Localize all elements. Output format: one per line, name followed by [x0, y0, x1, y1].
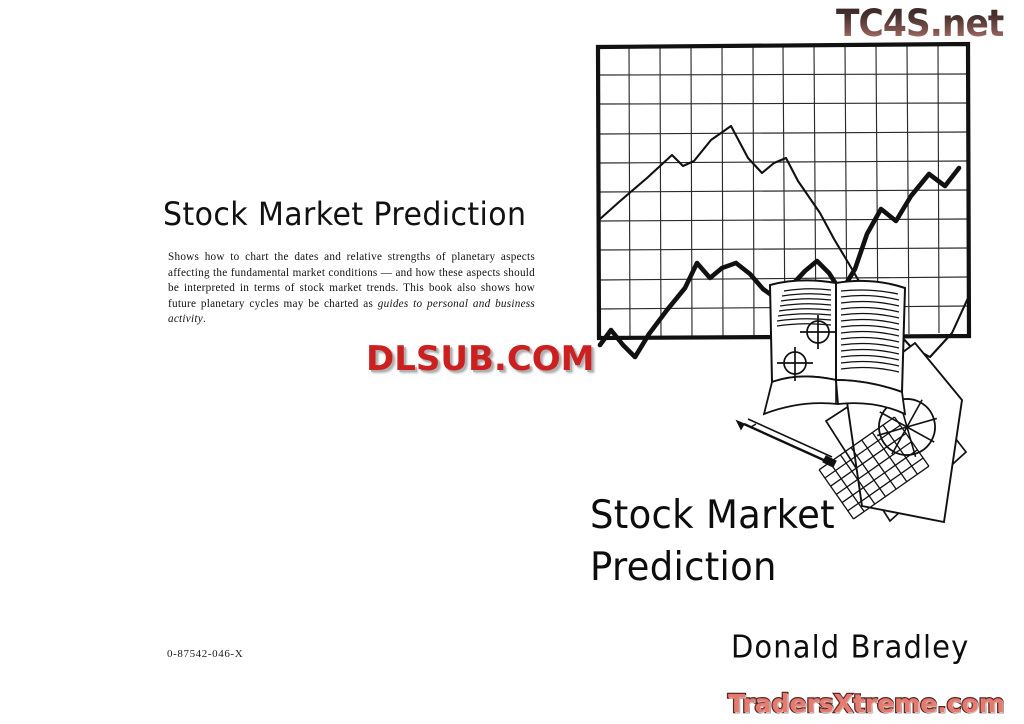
book-text-lines-right — [841, 290, 899, 372]
book-cover-page: Stock Market Prediction Shows how to cha… — [0, 0, 1024, 724]
pie-chart — [869, 389, 946, 466]
pencil-icon — [737, 419, 836, 467]
front-cover-author: Donald Bradley — [731, 629, 969, 665]
watermark-tc4s: TC4S.net — [836, 2, 1003, 45]
blurb-end-text: . — [203, 313, 206, 325]
crosshair-target-icon — [800, 315, 836, 349]
back-cover-title: Stock Market Prediction — [163, 196, 553, 234]
book-text-lines-left — [777, 289, 831, 326]
grid-chart — [598, 44, 969, 357]
crosshair-target-icon — [777, 347, 813, 381]
chart-gridlines — [598, 46, 968, 338]
chart-series-thin — [600, 126, 968, 357]
front-cover-title: Stock Market Prediction — [590, 489, 920, 593]
watermark-dlsub: DLSUB.COM — [366, 339, 595, 379]
front-title-line-2: Prediction — [590, 541, 920, 593]
chart-border — [598, 44, 969, 338]
watermark-tradersxtreme: TradersXtreme.com — [728, 689, 1005, 718]
isbn-number: 0-87542-046-X — [167, 648, 243, 660]
front-title-line-1: Stock Market — [590, 489, 920, 541]
chart-series-thick — [600, 168, 959, 357]
open-book — [764, 280, 905, 414]
back-cover-blurb: Shows how to chart the dates and relativ… — [168, 250, 535, 328]
